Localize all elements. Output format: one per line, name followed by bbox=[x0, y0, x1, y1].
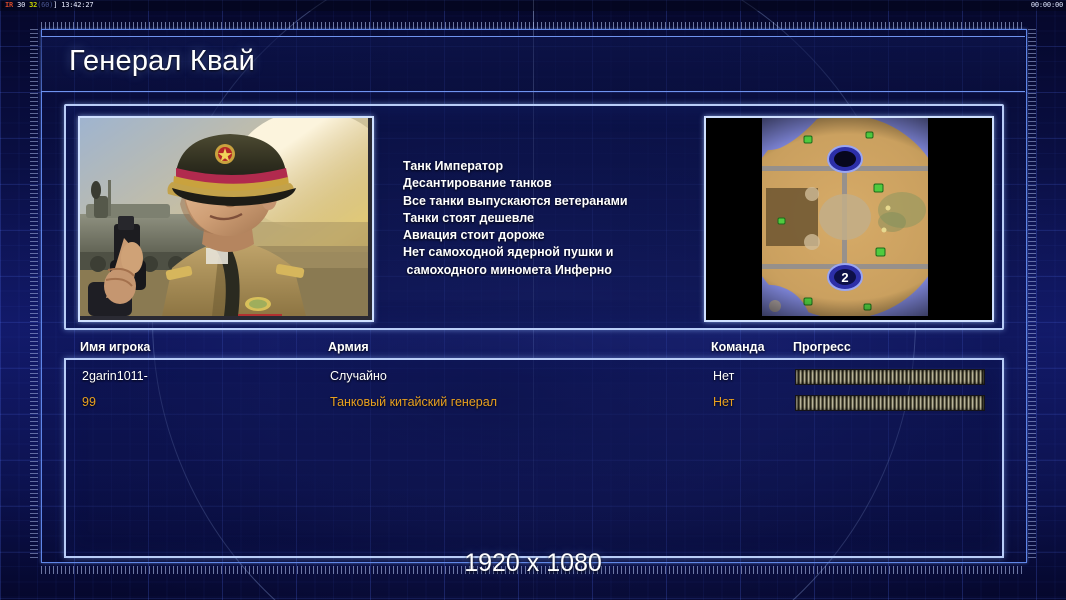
debug-value-1: 30 bbox=[17, 1, 25, 9]
player-row[interactable]: 2garin1011-СлучайноНет bbox=[66, 364, 1002, 390]
ruler-right bbox=[1028, 29, 1036, 561]
player-army: Танковый китайский генерал bbox=[330, 395, 497, 409]
page-title: Генерал Квай bbox=[69, 45, 255, 78]
title-bar: Генерал Квай bbox=[41, 36, 1025, 92]
debug-time: 13:42:27 bbox=[61, 1, 93, 9]
player-army: Случайно bbox=[330, 369, 387, 383]
player-row[interactable]: 99Танковый китайский генералНет bbox=[66, 390, 1002, 416]
player-list-headers: Имя игрокаАрмияКомандаПрогресс bbox=[66, 340, 998, 356]
progress-bar bbox=[795, 369, 985, 385]
resolution-label: 1920 x 1080 bbox=[0, 549, 1066, 578]
debug-status-bar: [IR 30 32(60)] 13:42:27 00:00:00 bbox=[0, 0, 1066, 11]
column-header: Армия bbox=[328, 340, 369, 354]
player-name: 99 bbox=[82, 395, 96, 409]
debug-value-2: 32 bbox=[29, 1, 37, 9]
player-team: Нет bbox=[713, 369, 734, 383]
game-lobby-screen: [IR 30 32(60)] 13:42:27 00:00:00 Генерал… bbox=[0, 0, 1066, 600]
ruler-left bbox=[30, 29, 38, 561]
player-team: Нет bbox=[713, 395, 734, 409]
debug-value-3: (60) bbox=[37, 1, 53, 9]
column-header: Имя игрока bbox=[80, 340, 150, 354]
player-list: 2garin1011-СлучайноНет99Танковый китайск… bbox=[64, 358, 1004, 558]
column-header: Команда bbox=[711, 340, 765, 354]
map-preview: 2 bbox=[704, 116, 994, 322]
progress-bar bbox=[795, 395, 985, 411]
column-header: Прогресс bbox=[793, 340, 851, 354]
general-info-panel: Танк ИмператорДесантирование танковВсе т… bbox=[64, 104, 1004, 330]
debug-tag: IR bbox=[5, 1, 13, 9]
debug-text: [IR 30 32(60)] 13:42:27 bbox=[1, 0, 93, 11]
general-kwai-portrait bbox=[78, 116, 374, 322]
debug-bracket: ] bbox=[53, 1, 57, 9]
player-name: 2garin1011- bbox=[82, 369, 148, 383]
session-timer: 00:00:00 bbox=[1031, 0, 1063, 11]
